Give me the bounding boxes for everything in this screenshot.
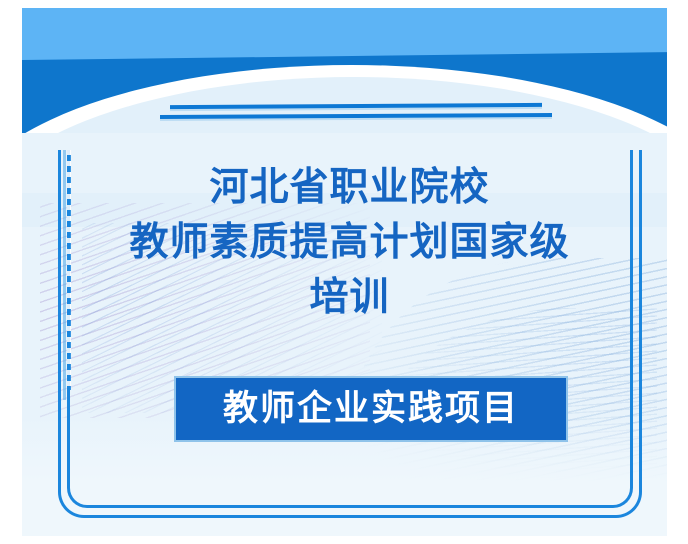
project-name-banner: 教师企业实践项目	[174, 376, 568, 442]
poster-card: 河北省职业院校 教师素质提高计划国家级 培训 教师企业实践项目	[22, 8, 667, 536]
frame-left-bar-glow	[63, 150, 66, 400]
project-name-banner-text: 教师企业实践项目	[223, 392, 519, 427]
frame-left-dashed-bar	[67, 150, 71, 390]
poster-canvas: 河北省职业院校 教师素质提高计划国家级 培训 教师企业实践项目	[0, 0, 688, 544]
poster-title: 河北省职业院校 教师素质提高计划国家级 培训	[77, 160, 622, 325]
